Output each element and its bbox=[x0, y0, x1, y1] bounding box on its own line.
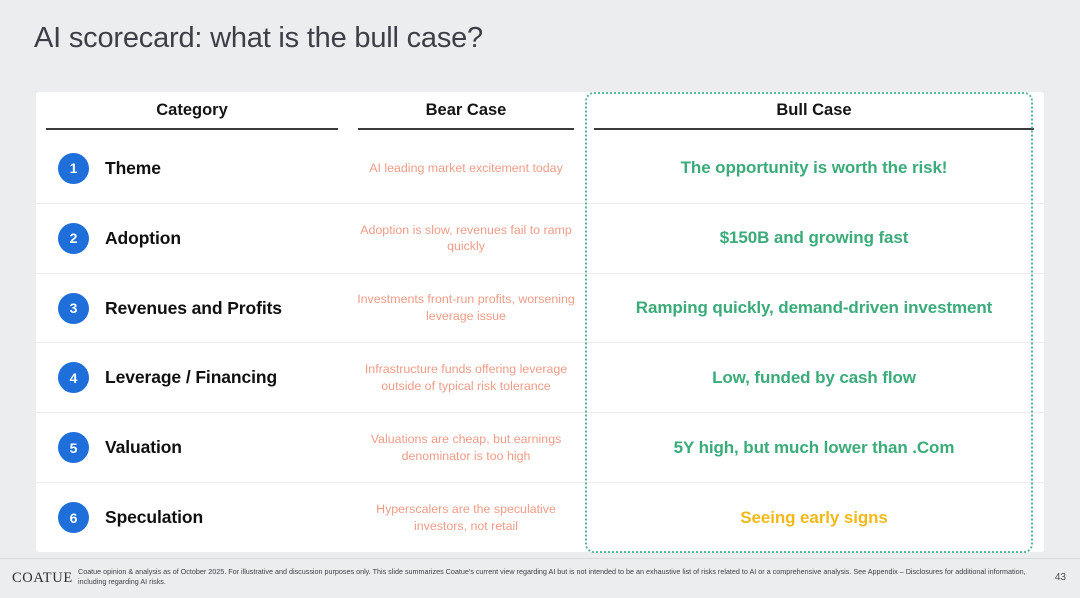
category-label: Leverage / Financing bbox=[105, 367, 277, 388]
row-number-badge: 3 bbox=[58, 293, 89, 324]
table-row: 5 Valuation Valuations are cheap, but ea… bbox=[36, 413, 1044, 483]
cell-bear-case: Infrastructure funds offering leverage o… bbox=[348, 343, 584, 412]
category-label: Speculation bbox=[105, 507, 203, 528]
column-header-category: Category bbox=[36, 92, 348, 128]
scorecard-table: Category Bear Case Bull Case 1 Theme AI … bbox=[36, 92, 1044, 552]
bull-case-text: $150B and growing fast bbox=[720, 227, 909, 249]
category-label: Valuation bbox=[105, 437, 182, 458]
cell-bull-case: Seeing early signs bbox=[584, 483, 1044, 552]
table-row: 3 Revenues and Profits Investments front… bbox=[36, 274, 1044, 344]
table-row: 4 Leverage / Financing Infrastructure fu… bbox=[36, 343, 1044, 413]
row-number-badge: 6 bbox=[58, 502, 89, 533]
category-label: Theme bbox=[105, 158, 161, 179]
cell-bear-case: Adoption is slow, revenues fail to ramp … bbox=[348, 204, 584, 273]
cell-bull-case: 5Y high, but much lower than .Com bbox=[584, 413, 1044, 482]
cell-bear-case: Hyperscalers are the speculative investo… bbox=[348, 483, 584, 552]
page-number: 43 bbox=[1055, 572, 1066, 583]
bull-case-text: 5Y high, but much lower than .Com bbox=[674, 437, 955, 459]
cell-category: 5 Valuation bbox=[36, 413, 348, 482]
bear-case-text: Infrastructure funds offering leverage o… bbox=[354, 361, 578, 394]
table-row: 2 Adoption Adoption is slow, revenues fa… bbox=[36, 204, 1044, 274]
row-number-badge: 4 bbox=[58, 362, 89, 393]
table-row: 6 Speculation Hyperscalers are the specu… bbox=[36, 483, 1044, 552]
slide-footer: COATUE Coatue opinion & analysis as of O… bbox=[0, 558, 1080, 598]
column-header-bull-case: Bull Case bbox=[584, 92, 1044, 128]
table-body: 1 Theme AI leading market excitement tod… bbox=[36, 134, 1044, 552]
bear-case-text: Investments front-run profits, worsening… bbox=[354, 291, 578, 324]
cell-category: 2 Adoption bbox=[36, 204, 348, 273]
row-number-badge: 5 bbox=[58, 432, 89, 463]
cell-bull-case: The opportunity is worth the risk! bbox=[584, 134, 1044, 203]
bear-case-text: Adoption is slow, revenues fail to ramp … bbox=[354, 222, 578, 255]
row-number-badge: 1 bbox=[58, 153, 89, 184]
bull-case-text: Low, funded by cash flow bbox=[712, 367, 916, 389]
table-header-row: Category Bear Case Bull Case bbox=[36, 92, 1044, 134]
column-header-bear-case: Bear Case bbox=[348, 92, 584, 128]
page-title: AI scorecard: what is the bull case? bbox=[34, 22, 483, 55]
cell-bull-case: Low, funded by cash flow bbox=[584, 343, 1044, 412]
cell-category: 3 Revenues and Profits bbox=[36, 274, 348, 343]
bull-case-text: The opportunity is worth the risk! bbox=[681, 157, 948, 179]
cell-bear-case: AI leading market excitement today bbox=[348, 134, 584, 203]
row-number-badge: 2 bbox=[58, 223, 89, 254]
bull-case-text: Ramping quickly, demand-driven investmen… bbox=[636, 297, 992, 319]
table-row: 1 Theme AI leading market excitement tod… bbox=[36, 134, 1044, 204]
bull-case-text: Seeing early signs bbox=[740, 507, 888, 529]
cell-category: 1 Theme bbox=[36, 134, 348, 203]
cell-bull-case: $150B and growing fast bbox=[584, 204, 1044, 273]
category-label: Revenues and Profits bbox=[105, 298, 282, 319]
cell-category: 6 Speculation bbox=[36, 483, 348, 552]
cell-bull-case: Ramping quickly, demand-driven investmen… bbox=[584, 274, 1044, 343]
coatue-logo: COATUE bbox=[12, 570, 73, 587]
category-label: Adoption bbox=[105, 228, 181, 249]
footer-disclaimer: Coatue opinion & analysis as of October … bbox=[78, 567, 1026, 588]
bear-case-text: Valuations are cheap, but earnings denom… bbox=[354, 431, 578, 464]
cell-category: 4 Leverage / Financing bbox=[36, 343, 348, 412]
cell-bear-case: Valuations are cheap, but earnings denom… bbox=[348, 413, 584, 482]
bear-case-text: AI leading market excitement today bbox=[369, 160, 563, 177]
cell-bear-case: Investments front-run profits, worsening… bbox=[348, 274, 584, 343]
bear-case-text: Hyperscalers are the speculative investo… bbox=[354, 501, 578, 534]
